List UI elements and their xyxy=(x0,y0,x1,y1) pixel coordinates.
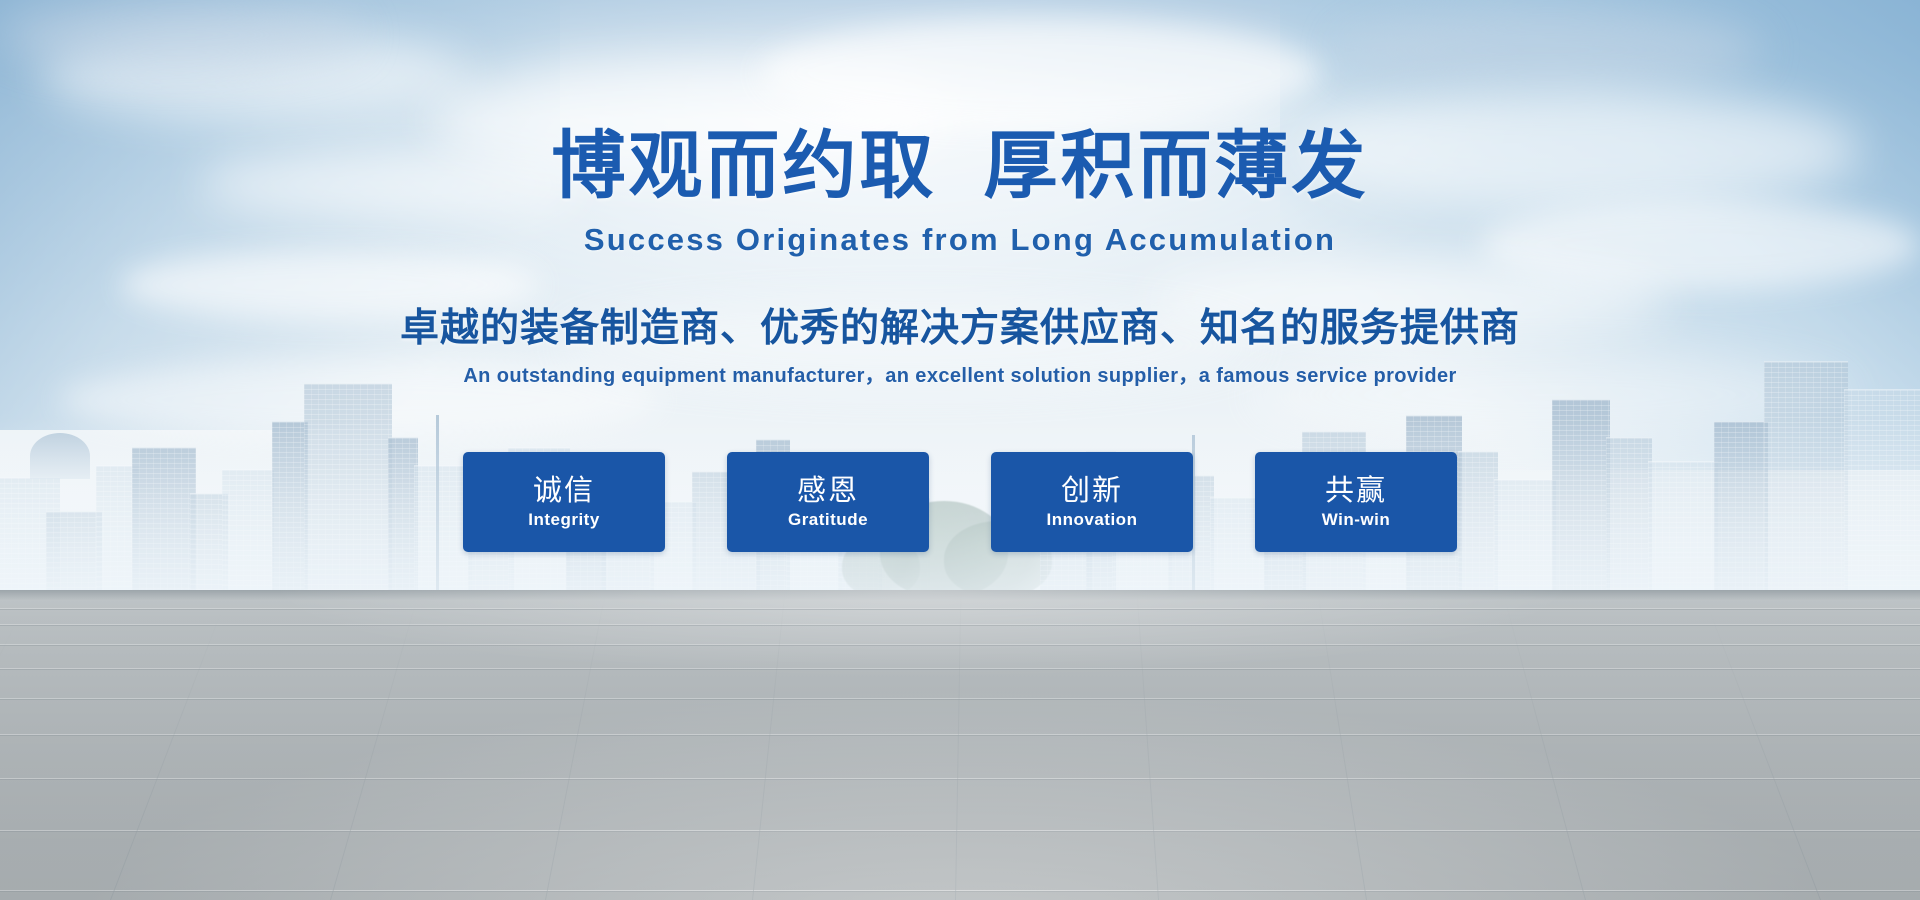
banner-subline-cn: 卓越的装备制造商、优秀的解决方案供应商、知名的服务提供商 xyxy=(0,306,1920,352)
value-card-innovation[interactable]: 创新 Innovation xyxy=(991,452,1193,552)
banner-headline-cn: 博观而约取 厚积而薄发 xyxy=(0,124,1920,208)
value-card-label-en: Gratitude xyxy=(788,510,868,530)
value-card-label-cn: 共赢 xyxy=(1325,474,1387,508)
value-card-integrity[interactable]: 诚信 Integrity xyxy=(463,452,665,552)
value-card-label-cn: 感恩 xyxy=(797,474,859,508)
value-card-label-cn: 诚信 xyxy=(533,474,595,508)
banner-subline-en: An outstanding equipment manufacturer，an… xyxy=(0,363,1920,389)
core-values-row: 诚信 Integrity 感恩 Gratitude 创新 Innovation … xyxy=(0,452,1920,552)
value-card-label-en: Integrity xyxy=(528,510,600,530)
banner-headline-en: Success Originates from Long Accumulatio… xyxy=(0,222,1920,258)
banner-content: 博观而约取 厚积而薄发 Success Originates from Long… xyxy=(0,0,1920,900)
value-card-label-en: Win-win xyxy=(1322,510,1391,530)
hero-banner: 博观而约取 厚积而薄发 Success Originates from Long… xyxy=(0,0,1920,900)
value-card-label-en: Innovation xyxy=(1047,510,1138,530)
value-card-winwin[interactable]: 共赢 Win-win xyxy=(1255,452,1457,552)
value-card-label-cn: 创新 xyxy=(1061,474,1123,508)
value-card-gratitude[interactable]: 感恩 Gratitude xyxy=(727,452,929,552)
